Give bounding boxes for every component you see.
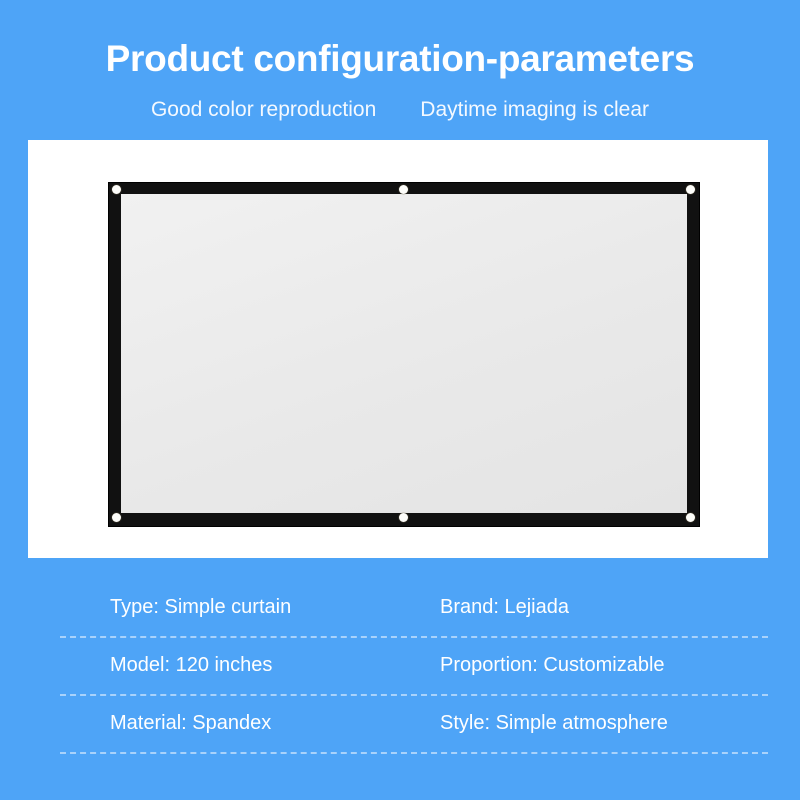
spec-model: Model: 120 inches [110,650,272,680]
spec-type: Type: Simple curtain [110,592,291,622]
projector-screen-image [108,182,700,527]
subtitle-color-reproduction: Good color reproduction [151,96,376,124]
page-title: Product configuration-parameters [0,36,800,82]
spec-material: Material: Spandex [110,708,271,738]
screen-surface [121,194,687,513]
product-spec-page: Product configuration-parameters Good co… [0,0,800,800]
spec-divider [60,752,768,754]
grommet-top-left-icon [112,185,121,194]
spec-row: Type: Simple curtain Brand: Lejiada [60,580,768,638]
grommet-bottom-right-icon [686,513,695,522]
grommet-bottom-center-icon [399,513,408,522]
spec-table: Type: Simple curtain Brand: Lejiada Mode… [60,580,768,760]
page-header: Product configuration-parameters Good co… [0,0,800,140]
subtitle-row: Good color reproduction Daytime imaging … [0,96,800,124]
product-image-card [28,140,768,558]
subtitle-daytime-imaging: Daytime imaging is clear [420,96,649,124]
screen-frame [108,182,700,527]
grommet-top-right-icon [686,185,695,194]
spec-style: Style: Simple atmosphere [440,708,668,738]
grommet-bottom-left-icon [112,513,121,522]
grommet-top-center-icon [399,185,408,194]
spec-row: Model: 120 inches Proportion: Customizab… [60,638,768,696]
spec-proportion: Proportion: Customizable [440,650,665,680]
spec-brand: Brand: Lejiada [440,592,569,622]
spec-row: Material: Spandex Style: Simple atmosphe… [60,696,768,754]
